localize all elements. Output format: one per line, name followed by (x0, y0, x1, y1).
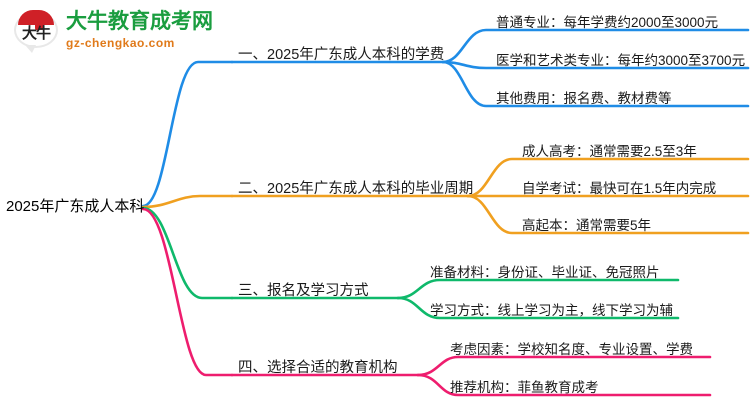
leaf-node-3-2[interactable]: 学习方式：线上学习为主，线下学习为辅 (430, 299, 673, 319)
mindmap-canvas: 大牛 大牛教育成考网 gz-chengkao.com (0, 0, 750, 410)
wire-branch-4-child-1 (418, 357, 710, 375)
branch-node-3[interactable]: 三、报名及学习方式 (238, 279, 369, 300)
wire-root-branch-2 (143, 196, 232, 207)
leaf-node-3-1[interactable]: 准备材料：身份证、毕业证、免冠照片 (430, 261, 660, 281)
mindmap-root-node[interactable]: 2025年广东成人本科 (6, 195, 144, 216)
branch-node-2[interactable]: 二、2025年广东成人本科的毕业周期 (238, 177, 473, 198)
leaf-node-4-2[interactable]: 推荐机构：菲鱼教育成考 (450, 376, 599, 396)
leaf-node-1-3[interactable]: 其他费用：报名费、教材费等 (496, 87, 672, 107)
leaf-node-1-2[interactable]: 医学和艺术类专业：每年约3000至3700元 (496, 49, 745, 69)
leaf-node-1-1[interactable]: 普通专业：每年学费约2000至3000元 (496, 11, 718, 31)
leaf-node-4-1[interactable]: 考虑因素：学校知名度、专业设置、学费 (450, 338, 693, 358)
wire-root-branch-1 (143, 62, 232, 206)
branch-node-1[interactable]: 一、2025年广东成人本科的学费 (238, 43, 444, 64)
leaf-node-2-3[interactable]: 高起本：通常需要5年 (522, 214, 651, 234)
wire-branch-3-child-1 (398, 280, 678, 298)
leaf-node-2-1[interactable]: 成人高考：通常需要2.5至3年 (522, 140, 697, 160)
branch-node-4[interactable]: 四、选择合适的教育机构 (238, 356, 398, 377)
leaf-node-2-2[interactable]: 自学考试：最快可在1.5年内完成 (522, 177, 716, 197)
wire-root-branch-4 (143, 209, 232, 375)
